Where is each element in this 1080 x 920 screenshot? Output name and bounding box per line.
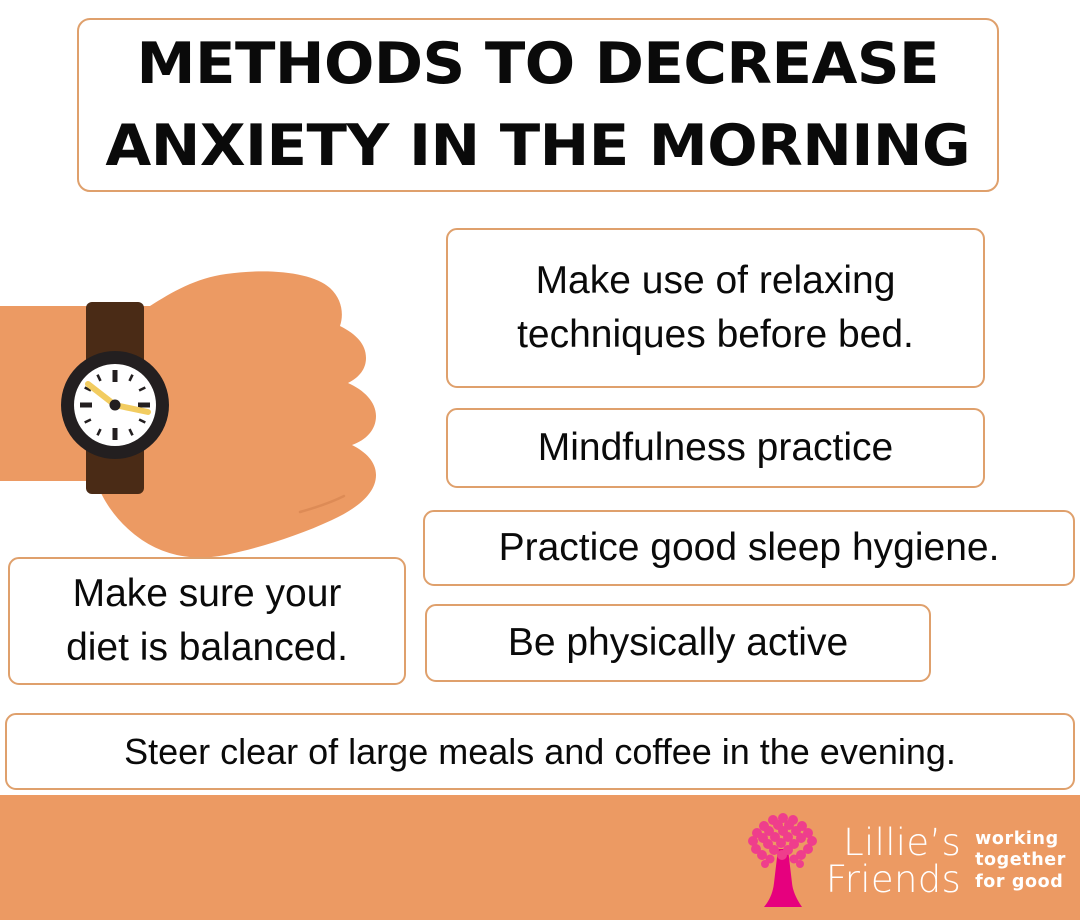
- tip-card-sleep-hygiene: Practice good sleep hygiene.: [423, 510, 1075, 586]
- tip-card-mindfulness-practice: Mindfulness practice: [446, 408, 985, 488]
- tip-text: Steer clear of large meals and coffee in…: [110, 727, 970, 777]
- tip-card-physically-active: Be physically active: [425, 604, 931, 682]
- tip-text: Mindfulness practice: [524, 421, 908, 475]
- logo-tagline-line-3: for good: [975, 872, 1066, 893]
- tip-text: Be physically active: [494, 616, 862, 670]
- infographic-poster: METHODS TO DECREASE ANXIETY IN THE MORNI…: [0, 0, 1080, 920]
- logo-wordmark: Lillie’s Friends: [826, 824, 961, 898]
- tree-canopy: [748, 813, 817, 868]
- logo-name-line-2: Friends: [826, 861, 961, 898]
- tip-text: Make sure your diet is balanced.: [52, 567, 362, 675]
- logo-tagline: working together for good: [975, 829, 1066, 893]
- tip-text: Practice good sleep hygiene.: [485, 521, 1014, 575]
- page-title: METHODS TO DECREASE ANXIETY IN THE MORNI…: [77, 18, 999, 192]
- fist-shape: [0, 271, 376, 557]
- tip-card-avoid-meals-coffee: Steer clear of large meals and coffee in…: [5, 713, 1075, 790]
- tree-icon: [744, 809, 822, 913]
- arm-with-wristwatch-illustration: [0, 262, 440, 592]
- watch-center-pin: [110, 400, 121, 411]
- lillies-friends-logo: Lillie’s Friends working together for go…: [744, 806, 1072, 916]
- tip-text: Make use of relaxing techniques before b…: [503, 254, 928, 362]
- tip-card-balanced-diet: Make sure your diet is balanced.: [8, 557, 406, 685]
- logo-tagline-line-2: together: [975, 850, 1066, 871]
- logo-tagline-line-1: working: [975, 829, 1066, 850]
- tip-card-relaxing-techniques: Make use of relaxing techniques before b…: [446, 228, 985, 388]
- logo-name-line-1: Lillie’s: [826, 824, 961, 861]
- page-title-text: METHODS TO DECREASE ANXIETY IN THE MORNI…: [89, 23, 987, 187]
